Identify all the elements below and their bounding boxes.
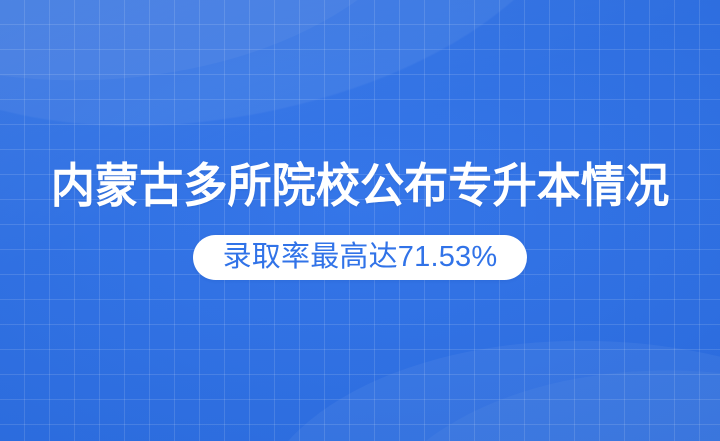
- subtitle-pill: 录取率最高达71.53%: [193, 235, 528, 280]
- promo-banner: 内蒙古多所院校公布专升本情况 录取率最高达71.53%: [0, 0, 720, 441]
- banner-content: 内蒙古多所院校公布专升本情况 录取率最高达71.53%: [0, 0, 720, 441]
- subtitle-text: 录取率最高达71.53%: [223, 243, 498, 272]
- banner-headline: 内蒙古多所院校公布专升本情况: [51, 162, 670, 209]
